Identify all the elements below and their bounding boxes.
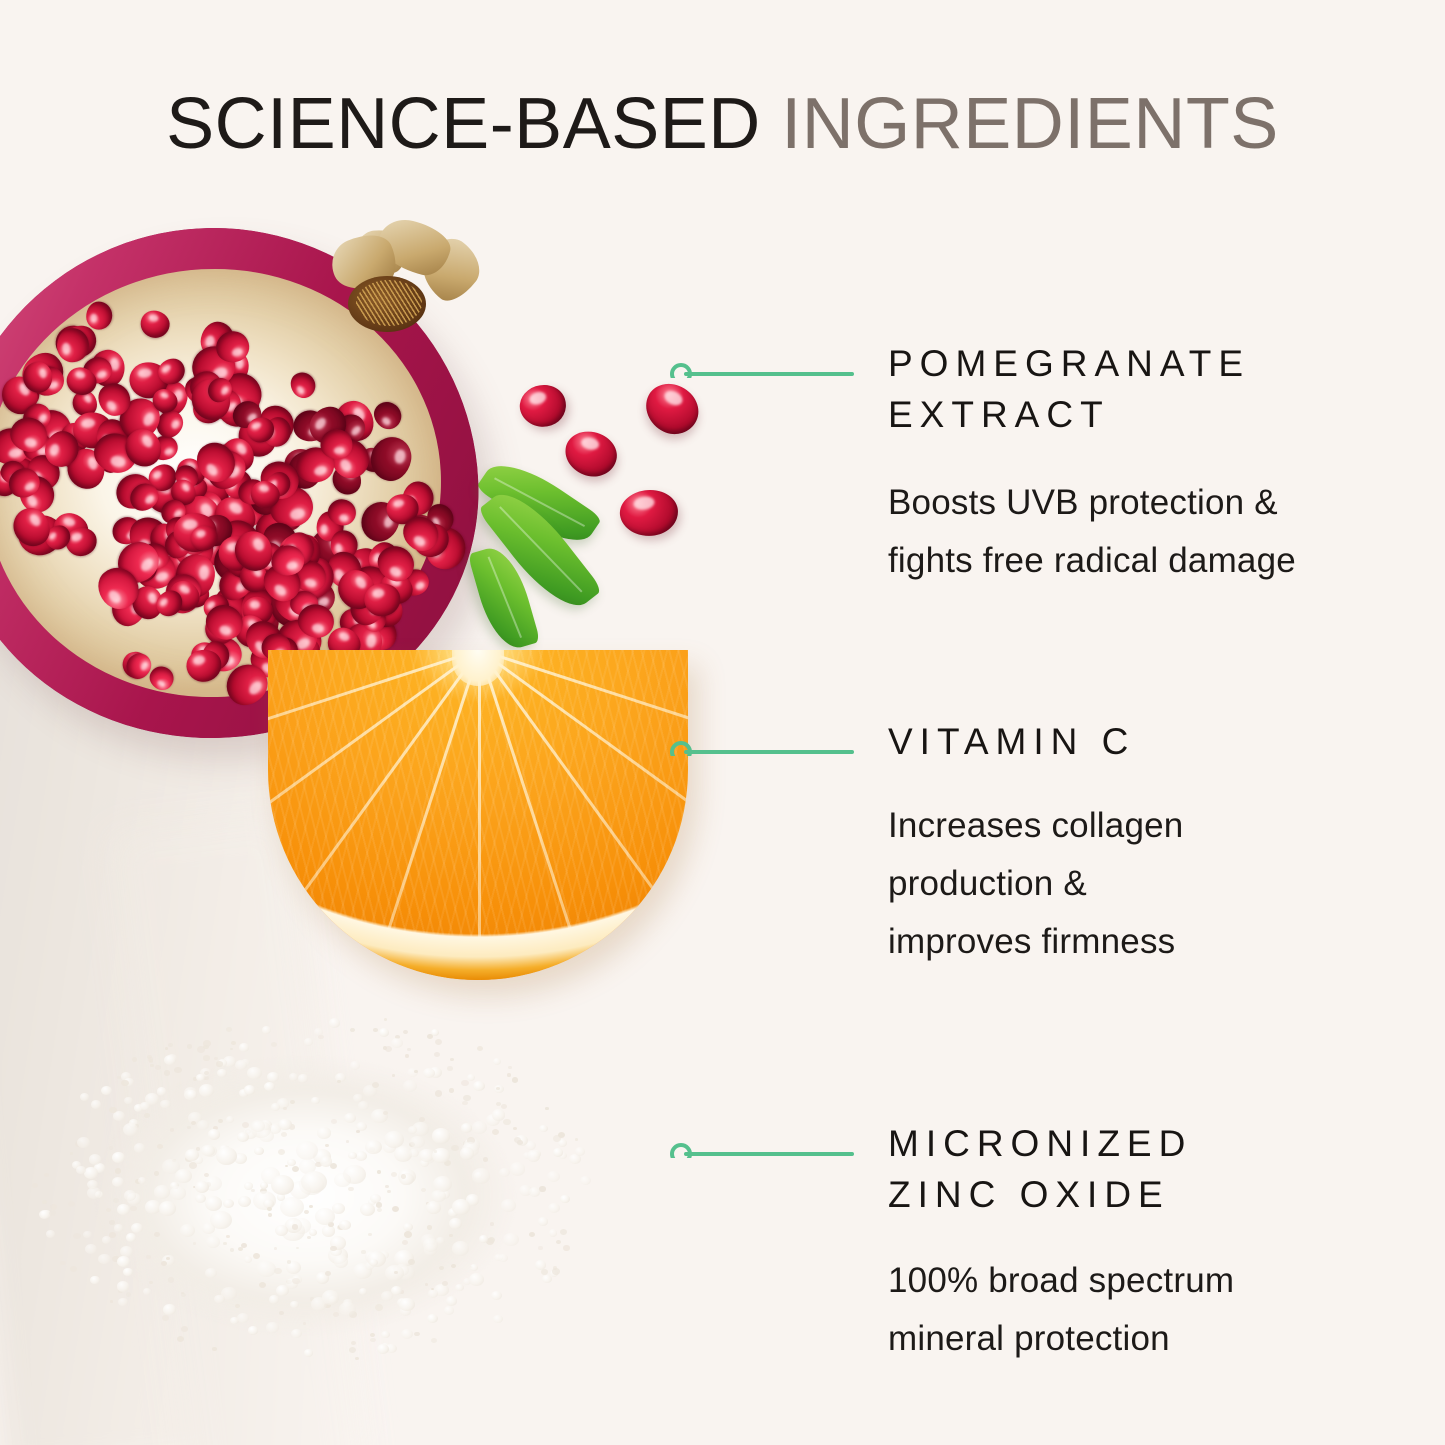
powder-grain — [461, 1080, 469, 1087]
powder-grain — [469, 1273, 484, 1286]
powder-grain — [244, 1085, 255, 1094]
powder-grain — [452, 1199, 470, 1214]
powder-grain — [109, 1232, 116, 1238]
powder-grain — [132, 1057, 137, 1061]
powder-grain — [123, 1268, 133, 1276]
powder-grain — [355, 1357, 359, 1360]
pomegranate-calyx — [326, 236, 476, 356]
powder-grain — [44, 1173, 49, 1177]
powder-grain — [117, 1076, 121, 1079]
powder-grain — [262, 1026, 271, 1034]
powder-grain — [539, 1186, 545, 1191]
powder-grain — [339, 1302, 355, 1316]
powder-grain — [223, 1199, 234, 1208]
powder-grain — [101, 1086, 112, 1095]
powder-grain — [355, 1151, 367, 1161]
powder-grain — [529, 1187, 541, 1197]
powder-grain — [419, 1117, 425, 1122]
callout-pomegranate-extract: POMEGRANATE EXTRACT Boosts UVB protectio… — [670, 338, 1430, 590]
powder-grain — [377, 1170, 381, 1174]
ingredient-photo-collage — [0, 180, 740, 1445]
connector-dot-icon — [672, 365, 690, 378]
powder-grain — [237, 1132, 249, 1142]
powder-grain — [556, 1240, 561, 1244]
powder-grain — [434, 1052, 440, 1057]
powder-grain — [331, 1119, 337, 1124]
powder-grain — [334, 1255, 348, 1267]
powder-grain — [157, 1087, 167, 1095]
powder-grain — [73, 1233, 81, 1239]
powder-grain — [187, 1126, 191, 1129]
powder-grain — [203, 1055, 209, 1060]
powder-grain — [447, 1066, 452, 1071]
calyx-fibers — [356, 280, 422, 326]
connector-line-icon — [670, 716, 870, 756]
powder-grain — [547, 1171, 560, 1182]
powder-grain — [304, 1038, 313, 1046]
powder-grain — [575, 1138, 579, 1141]
powder-grain — [110, 1300, 114, 1303]
powder-grain — [427, 1314, 438, 1323]
powder-grain — [148, 1057, 153, 1061]
connector-line-icon — [670, 338, 870, 378]
powder-grain — [320, 1156, 333, 1167]
powder-grain — [538, 1246, 542, 1250]
powder-grain — [580, 1176, 591, 1186]
powder-grain — [154, 1232, 160, 1237]
powder-grain — [444, 1306, 454, 1315]
powder-grain — [264, 1082, 275, 1091]
pomegranate-seed — [515, 379, 572, 433]
powder-grain — [442, 1281, 448, 1286]
powder-grain — [507, 1073, 511, 1076]
powder-grain — [330, 1246, 337, 1252]
powder-grain — [205, 1268, 217, 1278]
callout-vitamin-c: VITAMIN C Increases collagen production … — [670, 716, 1370, 971]
powder-grain — [283, 1107, 287, 1110]
title-part-dark: SCIENCE-BASED — [166, 84, 761, 164]
powder-grain — [46, 1230, 55, 1238]
powder-grain — [350, 1028, 355, 1032]
powder-grain — [208, 1129, 220, 1139]
powder-grain — [201, 1145, 215, 1157]
powder-grain — [344, 1113, 356, 1123]
powder-grain — [384, 1018, 387, 1021]
powder-grain — [560, 1229, 567, 1235]
powder-grain — [266, 1322, 279, 1333]
powder-grain — [405, 1054, 409, 1058]
powder-grain — [157, 1144, 163, 1149]
powder-grain — [85, 1244, 97, 1254]
powder-grain — [83, 1231, 91, 1238]
powder-grain — [259, 1130, 273, 1142]
callout-heading: VITAMIN C — [888, 716, 1370, 767]
powder-grain — [239, 1043, 250, 1052]
powder-grain — [102, 1236, 111, 1244]
powder-grain — [150, 1064, 154, 1067]
powder-grain — [124, 1190, 136, 1200]
powder-grain — [372, 1082, 379, 1088]
powder-grain — [89, 1154, 101, 1165]
powder-grain — [421, 1188, 426, 1192]
powder-grain — [431, 1190, 446, 1203]
powder-grain — [431, 1338, 437, 1343]
powder-grain — [399, 1298, 415, 1311]
powder-grain — [346, 1140, 349, 1143]
powder-grain — [112, 1152, 125, 1163]
powder-grain — [427, 1034, 433, 1039]
powder-grain — [361, 1250, 365, 1254]
powder-grain — [197, 1046, 205, 1053]
powder-grain — [423, 1238, 439, 1251]
powder-grain — [423, 1068, 435, 1078]
powder-grain — [337, 1080, 341, 1084]
powder-grain — [289, 1073, 299, 1081]
powder-grain — [271, 1175, 294, 1195]
powder-grain — [455, 1284, 464, 1291]
powder-grain — [560, 1195, 570, 1203]
powder-grain — [112, 1177, 124, 1187]
powder-grain — [538, 1217, 547, 1225]
pomegranate-aril — [367, 434, 415, 485]
powder-grain — [446, 1296, 457, 1306]
powder-grain — [339, 1220, 351, 1230]
powder-grain — [370, 1333, 375, 1337]
powder-grain — [68, 1201, 75, 1207]
powder-grain — [230, 1248, 234, 1252]
powder-grain — [311, 1097, 320, 1105]
powder-grain — [168, 1277, 174, 1283]
orange-slice-photo — [268, 650, 688, 980]
powder-grain — [373, 1028, 377, 1032]
powder-grain — [394, 1271, 398, 1274]
powder-grain — [545, 1107, 548, 1110]
powder-grain — [238, 1196, 251, 1207]
powder-grain — [563, 1245, 569, 1250]
powder-grain — [177, 1336, 184, 1342]
powder-grain — [461, 1123, 473, 1133]
pomegranate-aril — [139, 309, 172, 340]
powder-grain — [291, 1329, 302, 1338]
powder-grain — [235, 1304, 240, 1308]
powder-grain — [348, 1187, 353, 1191]
powder-grain — [204, 1071, 209, 1075]
powder-grain — [325, 1144, 329, 1148]
powder-grain — [279, 1311, 283, 1315]
title-part-light: INGREDIENTS — [761, 84, 1279, 164]
pomegranate-aril — [285, 368, 320, 403]
powder-grain — [174, 1067, 181, 1073]
powder-grain — [280, 1197, 304, 1217]
powder-grain — [197, 1120, 209, 1130]
powder-grain — [70, 1266, 77, 1272]
pomegranate-aril — [369, 397, 407, 434]
pomegranate-seed — [561, 427, 621, 481]
powder-grain — [451, 1145, 458, 1151]
powder-grain — [191, 1121, 196, 1125]
powder-grain — [315, 1208, 335, 1225]
powder-grain — [491, 1291, 502, 1301]
powder-grain — [126, 1233, 137, 1242]
infographic-page: SCIENCE-BASED INGREDIENTS — [0, 0, 1445, 1445]
powder-grain — [206, 1236, 220, 1247]
powder-grain — [186, 1090, 197, 1099]
powder-grain — [435, 1039, 442, 1045]
powder-grain — [226, 1027, 232, 1032]
powder-grain — [548, 1203, 560, 1214]
powder-grain — [32, 1183, 38, 1188]
powder-grain — [385, 1046, 392, 1052]
powder-grain — [391, 1038, 403, 1048]
powder-grain — [91, 1100, 101, 1109]
powder-grain — [553, 1148, 563, 1156]
powder-grain — [298, 1074, 308, 1082]
powder-grain — [251, 1120, 265, 1132]
powder-grain — [251, 1189, 255, 1192]
powder-grain — [535, 1260, 546, 1270]
powder-grain — [508, 1066, 511, 1069]
powder-grain — [217, 1069, 227, 1077]
powder-grain — [121, 1080, 129, 1087]
powder-grain — [214, 1295, 224, 1304]
powder-grain — [235, 1060, 247, 1070]
powder-grain — [292, 1224, 299, 1230]
powder-grain — [50, 1204, 57, 1210]
powder-grain — [358, 1101, 369, 1110]
powder-grain — [296, 1141, 318, 1160]
powder-grain — [195, 1194, 206, 1203]
powder-grain — [407, 1048, 410, 1051]
powder-grain — [154, 1185, 170, 1199]
powder-grain — [403, 1080, 417, 1092]
powder-grain — [304, 1210, 309, 1214]
powder-grain — [322, 1225, 335, 1236]
powder-grain — [199, 1084, 214, 1097]
powder-grain — [84, 1167, 98, 1179]
powder-grain — [109, 1220, 114, 1224]
powder-grain — [379, 1028, 389, 1037]
powder-grain — [503, 1233, 518, 1246]
powder-grain — [462, 1101, 467, 1106]
powder-grain — [501, 1104, 507, 1109]
powder-grain — [349, 1347, 356, 1353]
orange-rind — [268, 650, 688, 980]
powder-grain — [216, 1061, 222, 1066]
powder-grain — [401, 1329, 413, 1339]
powder-grain — [181, 1293, 186, 1297]
powder-grain — [348, 1152, 356, 1159]
pomegranate-aril — [86, 301, 112, 329]
powder-grain — [155, 1065, 161, 1070]
zinc-oxide-powder-photo — [10, 970, 670, 1440]
powder-grain — [226, 1235, 230, 1238]
page-title: SCIENCE-BASED INGREDIENTS — [0, 88, 1445, 160]
powder-grain — [391, 1172, 397, 1177]
powder-grain — [479, 1235, 488, 1243]
powder-grain — [549, 1229, 558, 1236]
powder-grain — [309, 1229, 317, 1236]
powder-grain — [140, 1102, 149, 1110]
powder-grain — [503, 1119, 511, 1126]
pomegranate-aril — [320, 429, 353, 460]
powder-grain — [404, 1231, 412, 1237]
powder-grain — [160, 1100, 170, 1109]
powder-grain — [202, 1223, 215, 1234]
powder-grain — [131, 1223, 143, 1233]
powder-grain — [185, 1149, 199, 1161]
powder-grain — [392, 1074, 395, 1077]
powder-grain — [472, 1168, 490, 1183]
powder-grain — [334, 1173, 350, 1187]
powder-grain — [322, 1290, 339, 1304]
powder-grain — [499, 1168, 510, 1177]
powder-grain — [144, 1113, 150, 1118]
powder-grain — [403, 1223, 413, 1231]
powder-grain — [460, 1147, 474, 1159]
powder-grain — [106, 1208, 111, 1212]
powder-grain — [146, 1255, 150, 1259]
powder-grain — [527, 1150, 540, 1161]
callout-body: Boosts UVB protection & fights free radi… — [888, 474, 1430, 590]
powder-grain — [428, 1289, 438, 1298]
powder-grain — [377, 1208, 382, 1212]
powder-grain — [49, 1210, 56, 1216]
powder-grain — [117, 1256, 130, 1267]
powder-grain — [216, 1147, 237, 1165]
powder-grain — [42, 1200, 47, 1204]
powder-grain — [276, 1285, 289, 1296]
powder-grain — [317, 1127, 330, 1138]
powder-grain — [203, 1040, 211, 1047]
powder-grain — [435, 1090, 443, 1097]
powder-grain — [117, 1204, 130, 1215]
powder-grain — [218, 1119, 223, 1123]
powder-grain — [196, 1074, 205, 1081]
connector-dot-icon — [672, 743, 690, 756]
powder-grain — [60, 1261, 66, 1266]
callout-heading: MICRONIZED ZINC OXIDE — [888, 1118, 1370, 1220]
powder-grain — [244, 1182, 253, 1190]
powder-grain — [212, 1347, 216, 1351]
powder-grain — [98, 1254, 111, 1265]
powder-grain — [304, 1349, 313, 1357]
connector-line-icon — [670, 1118, 870, 1158]
powder-grain — [159, 1201, 177, 1216]
callout-body: 100% broad spectrum mineral protection — [888, 1252, 1370, 1368]
powder-grain — [384, 1131, 404, 1148]
powder-grain — [542, 1275, 551, 1283]
powder-grain — [512, 1077, 518, 1082]
powder-grain — [126, 1292, 131, 1296]
powder-grain — [470, 1264, 478, 1271]
powder-grain — [292, 1278, 299, 1284]
powder-grain — [170, 1186, 186, 1199]
powder-grain — [114, 1224, 122, 1231]
powder-grain — [247, 1067, 261, 1079]
powder-grain — [490, 1222, 494, 1225]
powder-grain — [301, 1171, 327, 1193]
powder-grain — [70, 1152, 74, 1155]
powder-grain — [162, 1315, 169, 1321]
powder-grain — [268, 1213, 272, 1217]
connector-dot-icon — [672, 1145, 690, 1158]
powder-grain — [214, 1057, 218, 1060]
powder-grain — [350, 1061, 360, 1070]
powder-grain — [510, 1162, 526, 1175]
powder-grain — [134, 1143, 145, 1153]
callout-body: Increases collagen production & improves… — [888, 797, 1370, 971]
powder-grain — [77, 1137, 90, 1148]
powder-grain — [329, 1018, 340, 1027]
powder-grain — [427, 1225, 432, 1229]
powder-grain — [164, 1070, 170, 1075]
powder-grain — [403, 1030, 408, 1035]
powder-grain — [370, 1338, 375, 1342]
powder-grain — [181, 1326, 188, 1332]
powder-grain — [351, 1341, 356, 1345]
powder-grain — [205, 1196, 223, 1211]
powder-grain — [426, 1201, 441, 1213]
powder-grain — [168, 1043, 173, 1047]
callout-heading: POMEGRANATE EXTRACT — [888, 338, 1430, 440]
powder-grain — [449, 1088, 454, 1093]
powder-grain — [90, 1276, 100, 1284]
powder-grain — [117, 1281, 129, 1291]
callout-micronized-zinc-oxide: MICRONIZED ZINC OXIDE 100% broad spectru… — [670, 1118, 1370, 1368]
powder-grain — [383, 1111, 388, 1115]
powder-grain — [377, 1344, 389, 1354]
powder-grain — [575, 1147, 585, 1156]
powder-grain — [256, 1261, 275, 1278]
